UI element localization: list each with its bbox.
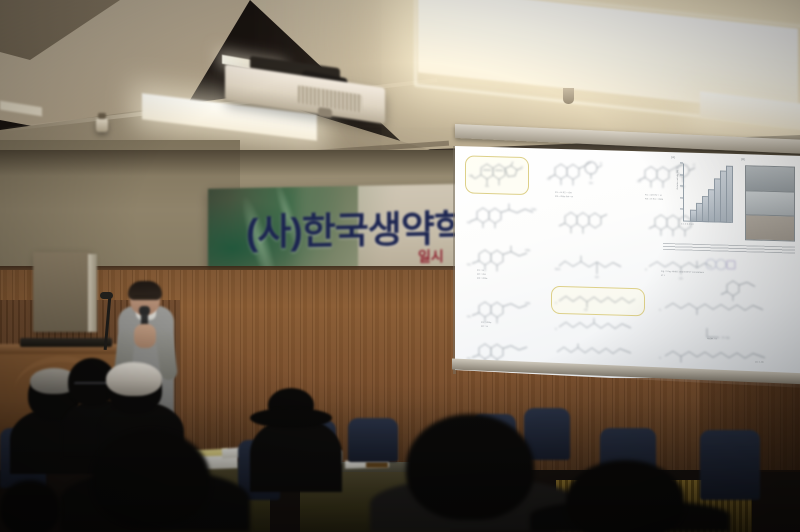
svg-text:OH: OH <box>595 276 599 279</box>
chart-y-tick <box>680 185 683 186</box>
western-blot-panel-3 <box>745 214 795 241</box>
lectern-shelf <box>20 338 112 347</box>
attendee-foreground-center-head <box>406 414 534 520</box>
molecule-label-3: R1 = OH R2 = H <box>645 194 662 197</box>
presenter-hands <box>134 324 156 348</box>
molecule-label-2b: R3 = OMe R4 = H <box>555 196 573 200</box>
svg-text:HO: HO <box>467 315 471 318</box>
chart-y-tick <box>680 174 683 175</box>
projector-lens-icon <box>318 107 332 118</box>
svg-text:OH: OH <box>589 181 593 185</box>
svg-text:O: O <box>521 165 523 169</box>
svg-text:OH: OH <box>679 277 683 280</box>
molecule-structure-16: O <box>659 295 779 320</box>
ceiling-light-stem <box>563 88 574 104</box>
presentation-slide: HOOHO OHOOH <box>455 146 800 378</box>
chart-y-tick <box>680 208 683 209</box>
microphone-head-icon <box>139 306 150 315</box>
chart-x-tick-labels: C 1 2 3 4 5 6 <box>681 223 694 226</box>
svg-text:HO: HO <box>547 177 551 181</box>
attendee-white-hair <box>106 362 162 396</box>
eyeglass-case <box>366 462 388 468</box>
western-blot-panel-1 <box>745 165 795 192</box>
molecule-label-3b: R3 = H R4 = OMe <box>645 198 663 202</box>
chart-y-tick <box>680 197 683 198</box>
molecule-structure-10: HOOMe <box>467 293 539 327</box>
chart-panel-label: (A) <box>671 155 675 159</box>
svg-text:OMe: OMe <box>525 249 531 252</box>
svg-text:HO: HO <box>637 179 641 183</box>
molecule-label-10: R1 = OMe <box>481 322 491 325</box>
chart-y-axis <box>683 163 684 221</box>
molecule-structure-12: O <box>555 316 637 338</box>
attendee-hat-brim <box>250 408 332 428</box>
molecule-structure-8: MeOOH <box>555 252 625 280</box>
svg-text:HO: HO <box>467 221 471 224</box>
svg-text:O: O <box>645 268 647 271</box>
molecule-structure-5 <box>555 206 613 238</box>
svg-text:O: O <box>659 357 661 360</box>
svg-text:R = Me: R = Me <box>722 337 730 340</box>
reaction-condition-label: NaOH / rt <box>707 338 717 341</box>
attendee-foreground-edge-head <box>0 480 60 532</box>
chart-bar <box>726 166 733 223</box>
blot-panel-label: (B) <box>741 157 745 161</box>
chart-y-tick <box>680 162 683 163</box>
compound-number-label: (1): 1.00 <box>755 361 764 364</box>
svg-text:OMe: OMe <box>525 302 531 305</box>
banner-date-label: 일시 <box>418 246 444 266</box>
chart-y-axis-label: Relative activity (%) <box>677 170 680 190</box>
svg-text:OMe: OMe <box>531 208 537 211</box>
svg-text:HO: HO <box>467 263 471 266</box>
svg-text:MeO: MeO <box>555 268 560 271</box>
svg-text:O: O <box>659 309 661 312</box>
molecule-structure-1: HOOHO <box>469 160 525 190</box>
attendee-foreground-left-head <box>92 430 210 526</box>
molecule-label-10b: R2 = H <box>481 326 488 329</box>
svg-text:O: O <box>555 328 557 331</box>
chair-back <box>348 418 398 462</box>
chair-back <box>700 430 760 500</box>
projection-screen[interactable]: HOOHO OHOOH <box>455 146 800 378</box>
svg-text:HO: HO <box>469 174 473 178</box>
molecule-label-7c: R3 = OMe <box>477 278 487 281</box>
wall-mounted-loudspeaker <box>33 252 90 332</box>
molecule-structure-logo <box>701 256 735 271</box>
molecule-structure-2: OHOOH <box>547 158 607 190</box>
molecule-label-7b: R2 = OH <box>477 274 486 277</box>
glasses-icon <box>133 296 158 301</box>
svg-text:O: O <box>555 302 557 305</box>
lecture-hall-photo: (사)한국생약학회 대의 일시 (목련홀) <box>0 0 800 532</box>
glasses-icon <box>74 382 110 389</box>
attendee-hat-shoulders <box>250 418 342 492</box>
ceiling-spotlight-icon <box>96 118 108 132</box>
molecule-structure-11: OOH <box>555 290 639 312</box>
molecule-structure-4: HOOMe <box>467 199 539 231</box>
microphone-stand-head-icon <box>100 292 113 299</box>
svg-text:O: O <box>600 161 602 165</box>
molecule-structure-13 <box>553 342 637 362</box>
western-blot-panel-2 <box>745 190 795 216</box>
wall-loudspeaker-side <box>88 254 97 332</box>
attendee-foreground-right-head <box>566 460 684 532</box>
figure-caption-2b: of 1 <box>661 275 665 278</box>
svg-text:OH: OH <box>485 184 489 188</box>
bar-chart <box>683 163 731 222</box>
molecule-label-2: R1 = H R2 = OH <box>555 192 572 195</box>
molecule-label-7: R1 = H <box>477 270 484 273</box>
